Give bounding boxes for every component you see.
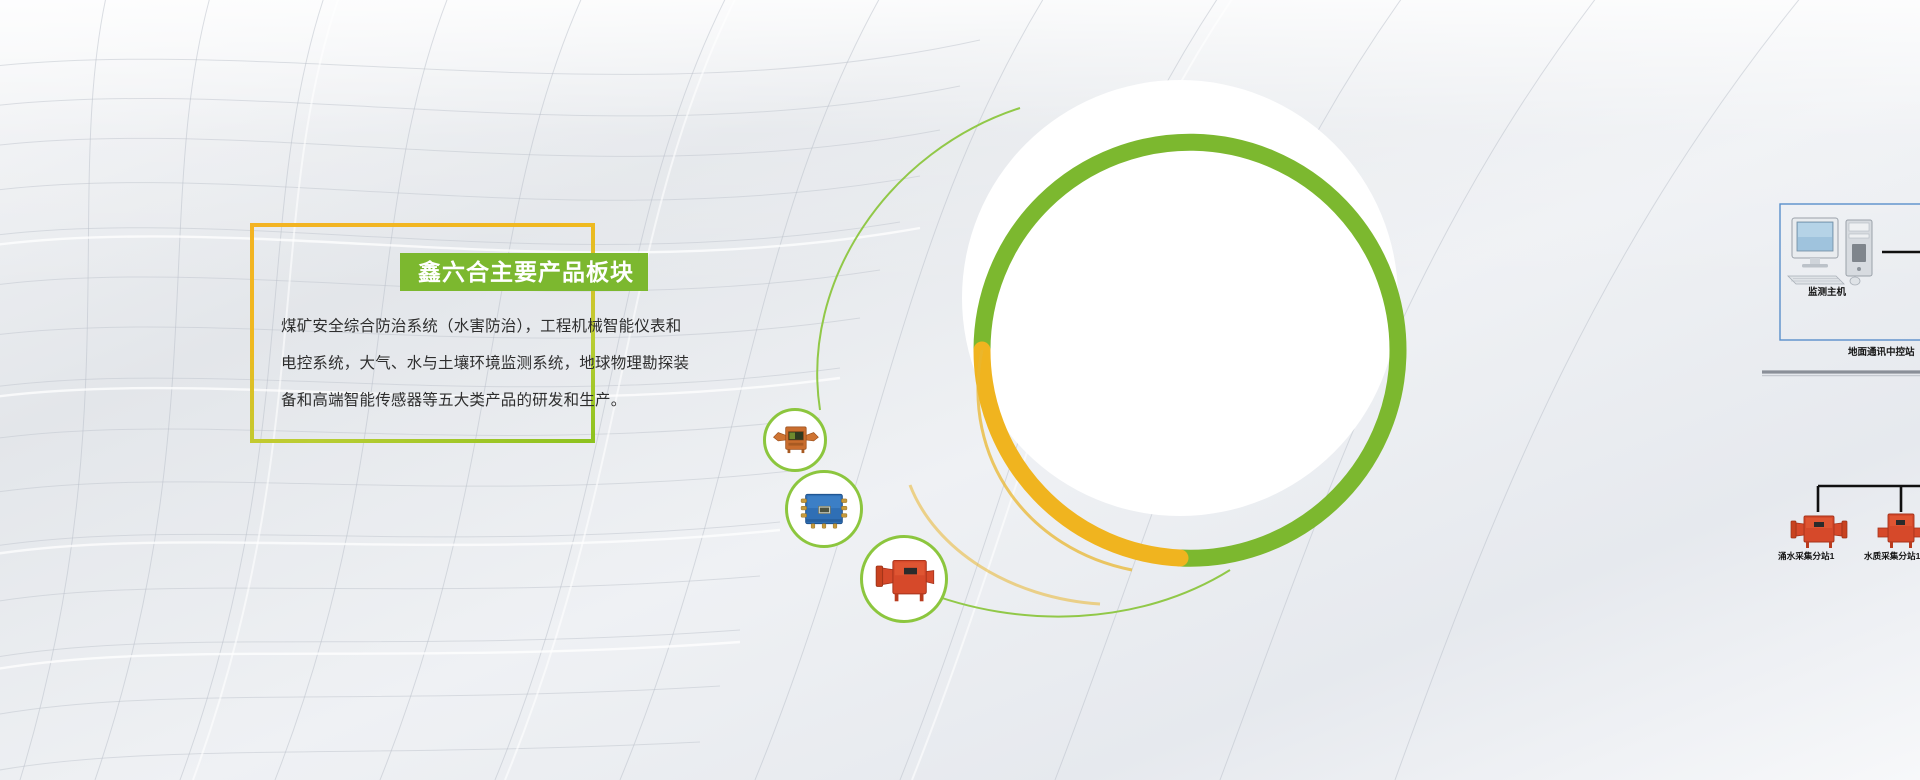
product-bubble-red-flowmeter[interactable]	[860, 535, 948, 623]
label-collector-2: 水质采集分站1	[1864, 552, 1920, 561]
label-monitor-host: 监测主机	[1808, 288, 1846, 298]
description-line-2: 电控系统，大气、水与土壤环境监测系统，地球物理勘探装	[281, 345, 711, 382]
red-flow-meter-icon	[865, 540, 943, 618]
product-bubble-orange-controller[interactable]	[763, 408, 827, 472]
page-title: 鑫六合主要产品板块	[418, 261, 634, 284]
blue-junction-box-icon	[791, 476, 857, 542]
product-description: 煤矿安全综合防治系统（水害防治），工程机械智能仪表和 电控系统，大气、水与土壤环…	[281, 308, 711, 419]
product-showcase-circle: 监测主机 监测中心 中控机 地面通讯中控站 地面 井下 通讯分站 涌水采集分站1…	[760, 30, 1920, 750]
page-title-banner: 鑫六合主要产品板块	[400, 253, 648, 291]
label-collector-1: 涌水采集分站1	[1778, 552, 1834, 561]
red-flowmeter-icon	[1791, 516, 1847, 548]
red-analyzer-icon	[1878, 514, 1920, 548]
label-surface-station: 地面通讯中控站	[1848, 348, 1915, 358]
topology-lines-and-devices	[1760, 190, 1920, 590]
circle-ring-graphics	[760, 30, 1920, 750]
product-bubble-blue-junction-box[interactable]	[785, 470, 863, 548]
desktop-computer-icon	[1788, 218, 1872, 285]
description-line-1: 煤矿安全综合防治系统（水害防治），工程机械智能仪表和	[281, 308, 711, 345]
page-root: 鑫六合主要产品板块 煤矿安全综合防治系统（水害防治），工程机械智能仪表和 电控系…	[0, 0, 1920, 780]
water-hazard-monitoring-topology: 监测主机 监测中心 中控机 地面通讯中控站 地面 井下 通讯分站 涌水采集分站1…	[1760, 190, 1920, 590]
description-line-3: 备和高端智能传感器等五大类产品的研发和生产。	[281, 382, 711, 419]
orange-explosion-proof-controller-icon	[767, 412, 823, 468]
